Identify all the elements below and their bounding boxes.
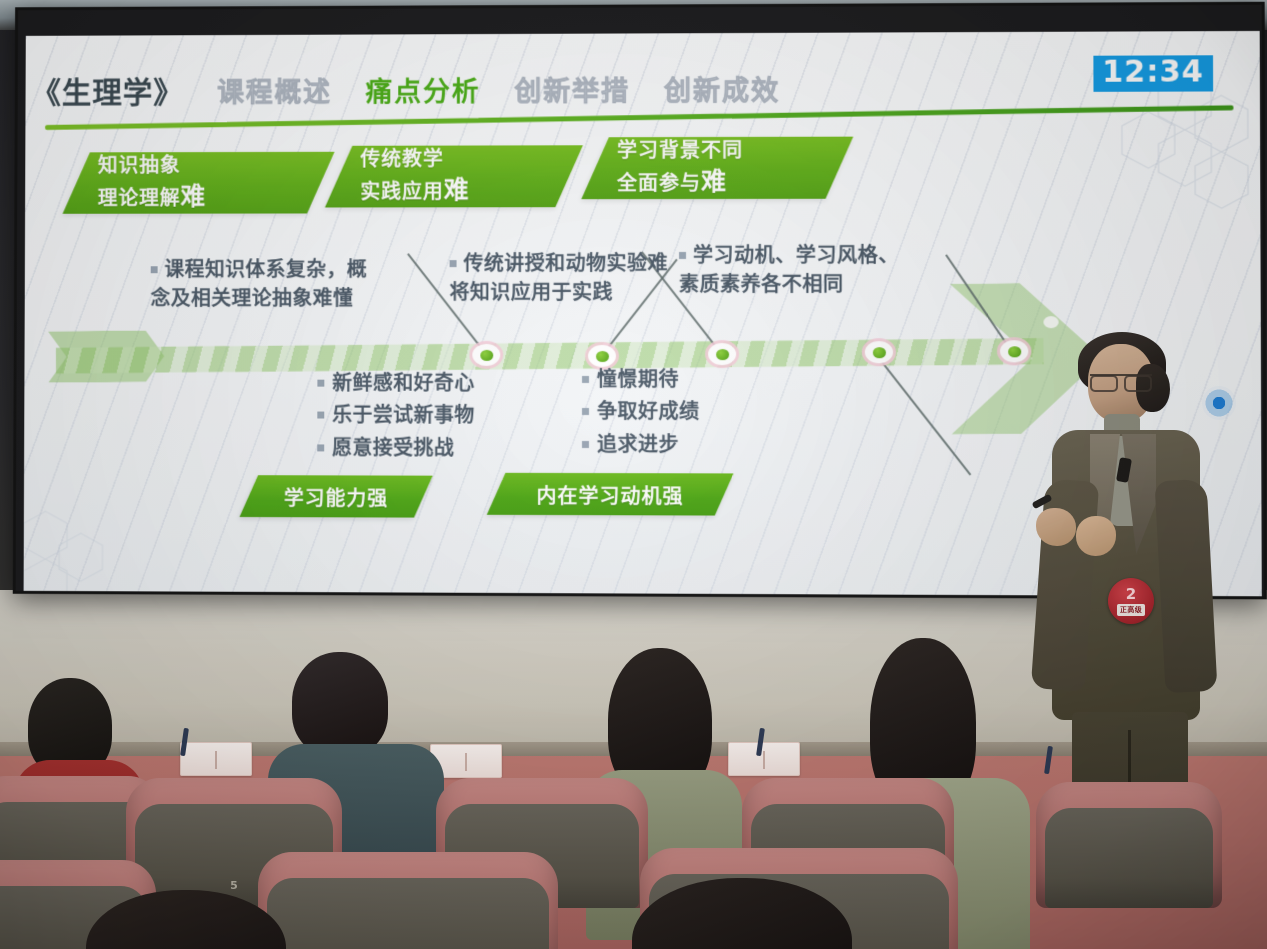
bullet-square-icon	[679, 252, 686, 259]
bullet-square-icon	[317, 380, 324, 387]
list-item: 争取好成绩	[582, 395, 700, 428]
pain-point-heading-1-emphasis: 难	[180, 181, 206, 210]
pain-point-heading-3-emphasis: 难	[701, 167, 727, 196]
pain-point-body-3-text: 学习动机、学习风格、素质素养各不相同	[679, 243, 899, 296]
strength-item-text: 新鲜感和好奇心	[332, 371, 475, 395]
course-title: 《生理学》	[31, 68, 183, 112]
tab-course-overview[interactable]: 课程概述	[217, 70, 332, 109]
pain-point-heading-3: 学习背景不同 全面参与难	[581, 137, 853, 200]
bullet-square-icon	[317, 412, 324, 419]
list-item: 乐于尝试新事物	[317, 399, 475, 432]
list-item: 憧憬期待	[582, 363, 700, 396]
spine-node-1	[472, 344, 500, 366]
strength-item-text: 乐于尝试新事物	[332, 403, 475, 427]
strength-tag-2: 内在学习动机强	[487, 473, 734, 516]
list-item: 愿意接受挑战	[317, 431, 475, 464]
bullet-square-icon	[450, 260, 457, 267]
pain-point-heading-3-line2: 全面参与	[617, 171, 701, 195]
pain-point-heading-2-line2: 实践应用	[360, 179, 443, 203]
list-item: 追求进步	[582, 428, 700, 461]
audience-area: 5 3 5	[0, 560, 1267, 949]
pain-point-body-1: 课程知识体系复杂，概念及相关理论抽象难懂	[151, 255, 379, 312]
pain-point-body-1-text: 课程知识体系复杂，概念及相关理论抽象难懂	[151, 257, 368, 310]
arrow-highlight-dot	[1043, 316, 1058, 328]
pain-point-heading-1-line2: 理论理解	[98, 185, 181, 209]
classroom-scene: 《生理学》 课程概述 痛点分析 创新举措 创新成效 12:34	[0, 0, 1267, 949]
pain-point-heading-2: 传统教学 实践应用难	[325, 145, 583, 207]
bullet-square-icon	[151, 266, 158, 273]
presenter-hand-right	[1076, 516, 1116, 556]
strength-item-text: 愿意接受挑战	[332, 435, 454, 459]
pain-point-heading-3-line1: 学习背景不同	[617, 137, 839, 165]
strength-list-1: 新鲜感和好奇心 乐于尝试新事物 愿意接受挑战	[317, 367, 475, 464]
seat-number: 5	[230, 879, 238, 892]
bullet-square-icon	[582, 408, 589, 415]
spine-node-4	[865, 341, 893, 363]
slide-nav: 《生理学》 课程概述 痛点分析 创新举措 创新成效	[25, 59, 1260, 117]
strength-item-text: 憧憬期待	[597, 367, 679, 391]
pain-point-heading-2-line1: 传统教学	[360, 146, 569, 174]
bullet-square-icon	[317, 444, 324, 451]
tab-pain-point-analysis[interactable]: 痛点分析	[366, 69, 481, 108]
timer-badge: 12:34	[1093, 55, 1213, 91]
pain-point-heading-2-emphasis: 难	[444, 175, 470, 204]
pain-point-body-3: 学习动机、学习风格、素质素养各不相同	[679, 241, 915, 299]
name-card	[180, 742, 252, 776]
strength-tag-1-label: 学习能力强	[249, 475, 424, 517]
bullet-square-icon	[582, 441, 589, 448]
seat	[258, 852, 558, 949]
strength-tag-2-label: 内在学习动机强	[496, 473, 724, 516]
tab-innovation-measures[interactable]: 创新举措	[514, 69, 630, 108]
arrow-spine	[56, 338, 1044, 374]
seat	[1036, 782, 1222, 908]
pain-point-heading-1: 知识抽象 理论理解难	[63, 152, 335, 214]
strength-list-2: 憧憬期待 争取好成绩 追求进步	[582, 363, 700, 461]
strength-tag-1: 学习能力强	[240, 475, 433, 517]
pain-point-body-2-text: 传统讲授和动物实验难将知识应用于实践	[450, 251, 668, 304]
name-card	[728, 742, 800, 776]
bullet-square-icon	[582, 376, 589, 383]
tab-innovation-results[interactable]: 创新成效	[664, 68, 780, 107]
strength-item-text: 追求进步	[597, 432, 679, 456]
pen	[1044, 746, 1053, 774]
presenter-hand-left	[1036, 508, 1076, 546]
strength-item-text: 争取好成绩	[597, 399, 700, 423]
pain-point-heading-1-line1: 知识抽象	[98, 152, 321, 179]
list-item: 新鲜感和好奇心	[317, 367, 474, 400]
spine-node-3	[708, 343, 736, 365]
person-hair	[292, 652, 388, 756]
connector-line-4	[877, 355, 972, 475]
pain-point-body-2: 传统讲授和动物实验难将知识应用于实践	[450, 249, 669, 307]
presenter-glasses-icon	[1090, 374, 1152, 388]
